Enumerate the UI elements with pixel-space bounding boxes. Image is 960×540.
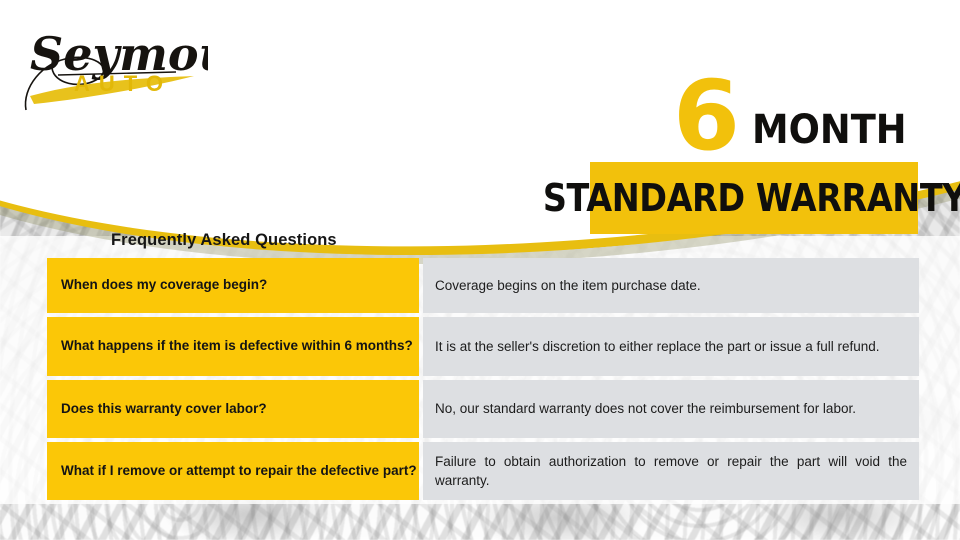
logo-auto-text: AUTO (74, 71, 172, 96)
seymour-auto-logo: Seymour AUTO (18, 18, 208, 118)
warranty-month-label: MONTH (752, 110, 907, 154)
faq-question-cell: What happens if the item is defective wi… (47, 317, 419, 376)
table-row: When does my coverage begin? Coverage be… (47, 258, 919, 313)
faq-table: When does my coverage begin? Coverage be… (47, 258, 919, 504)
faq-answer-text: It is at the seller's discretion to eith… (435, 337, 907, 356)
faq-answer-text: Failure to obtain authorization to remov… (435, 452, 907, 490)
faq-question-cell: When does my coverage begin? (47, 258, 419, 313)
table-row: What if I remove or attempt to repair th… (47, 442, 919, 500)
standard-warranty-text: STANDARD WARRANTY (542, 176, 960, 220)
faq-heading: Frequently Asked Questions (111, 231, 337, 250)
table-row: Does this warranty cover labor? No, our … (47, 380, 919, 438)
warranty-badge: 6 MONTH STANDARD WARRANTY (590, 62, 920, 234)
warranty-duration: 6 MONTH (673, 62, 920, 154)
table-row: What happens if the item is defective wi… (47, 317, 919, 376)
warranty-month-number: 6 (673, 79, 738, 154)
faq-answer-text: No, our standard warranty does not cover… (435, 399, 907, 418)
warranty-slide: Seymour AUTO 6 MONTH STANDARD WARRANTY F… (0, 0, 960, 540)
logo-artwork: Seymour AUTO (18, 18, 208, 118)
faq-answer-cell: No, our standard warranty does not cover… (423, 380, 919, 438)
faq-answer-cell: Failure to obtain authorization to remov… (423, 442, 919, 500)
faq-answer-text: Coverage begins on the item purchase dat… (435, 276, 907, 295)
standard-warranty-band: STANDARD WARRANTY (590, 162, 918, 234)
faq-answer-cell: It is at the seller's discretion to eith… (423, 317, 919, 376)
faq-question-cell: What if I remove or attempt to repair th… (47, 442, 419, 500)
faq-answer-cell: Coverage begins on the item purchase dat… (423, 258, 919, 313)
faq-question-cell: Does this warranty cover labor? (47, 380, 419, 438)
